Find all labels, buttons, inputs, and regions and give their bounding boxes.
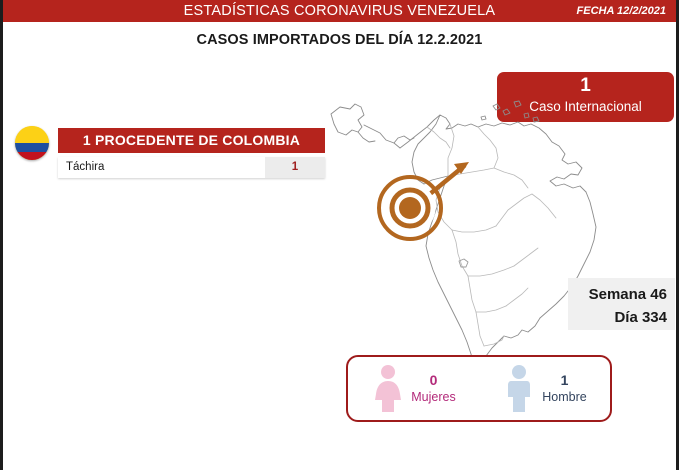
header-bar: ESTADÍSTICAS CORONAVIRUS VENEZUELA FECHA…	[3, 0, 676, 22]
week-label: Semana 46	[568, 283, 667, 306]
origin-row-count: 1	[265, 157, 325, 178]
gender-text-male: 1 Hombre	[542, 372, 586, 406]
south-america-map	[328, 80, 608, 380]
male-label: Hombre	[542, 389, 586, 406]
subtitle: CASOS IMPORTADOS DEL DÍA 12.2.2021	[3, 32, 676, 48]
male-figure-icon	[502, 364, 536, 414]
female-figure-icon	[371, 364, 405, 414]
flag-band-yellow	[15, 126, 49, 143]
flag-band-red	[15, 152, 49, 161]
gender-text-female: 0 Mujeres	[411, 372, 455, 406]
origin-panel: 1 PROCEDENTE DE COLOMBIA Táchira 1	[15, 126, 325, 182]
gender-item-male: 1 Hombre	[479, 357, 610, 420]
period-box: Semana 46 Día 334	[568, 278, 675, 330]
male-count: 1	[542, 372, 586, 389]
flag-band-blue	[15, 143, 49, 152]
table-row: Táchira 1	[58, 157, 325, 178]
infographic-root: ESTADÍSTICAS CORONAVIRUS VENEZUELA FECHA…	[0, 0, 679, 470]
day-label: Día 334	[568, 306, 667, 329]
target-bullseye-icon	[379, 177, 441, 239]
origin-panel-title: 1 PROCEDENTE DE COLOMBIA	[58, 128, 325, 153]
female-count: 0	[411, 372, 455, 389]
header-date: FECHA 12/2/2021	[577, 0, 666, 22]
colombia-flag-icon	[15, 126, 49, 160]
page-title: ESTADÍSTICAS CORONAVIRUS VENEZUELA	[3, 0, 676, 22]
origin-row-state: Táchira	[58, 157, 265, 178]
female-label: Mujeres	[411, 389, 455, 406]
gender-breakdown-box: 0 Mujeres 1 Hombre	[346, 355, 612, 422]
gender-item-female: 0 Mujeres	[348, 357, 479, 420]
